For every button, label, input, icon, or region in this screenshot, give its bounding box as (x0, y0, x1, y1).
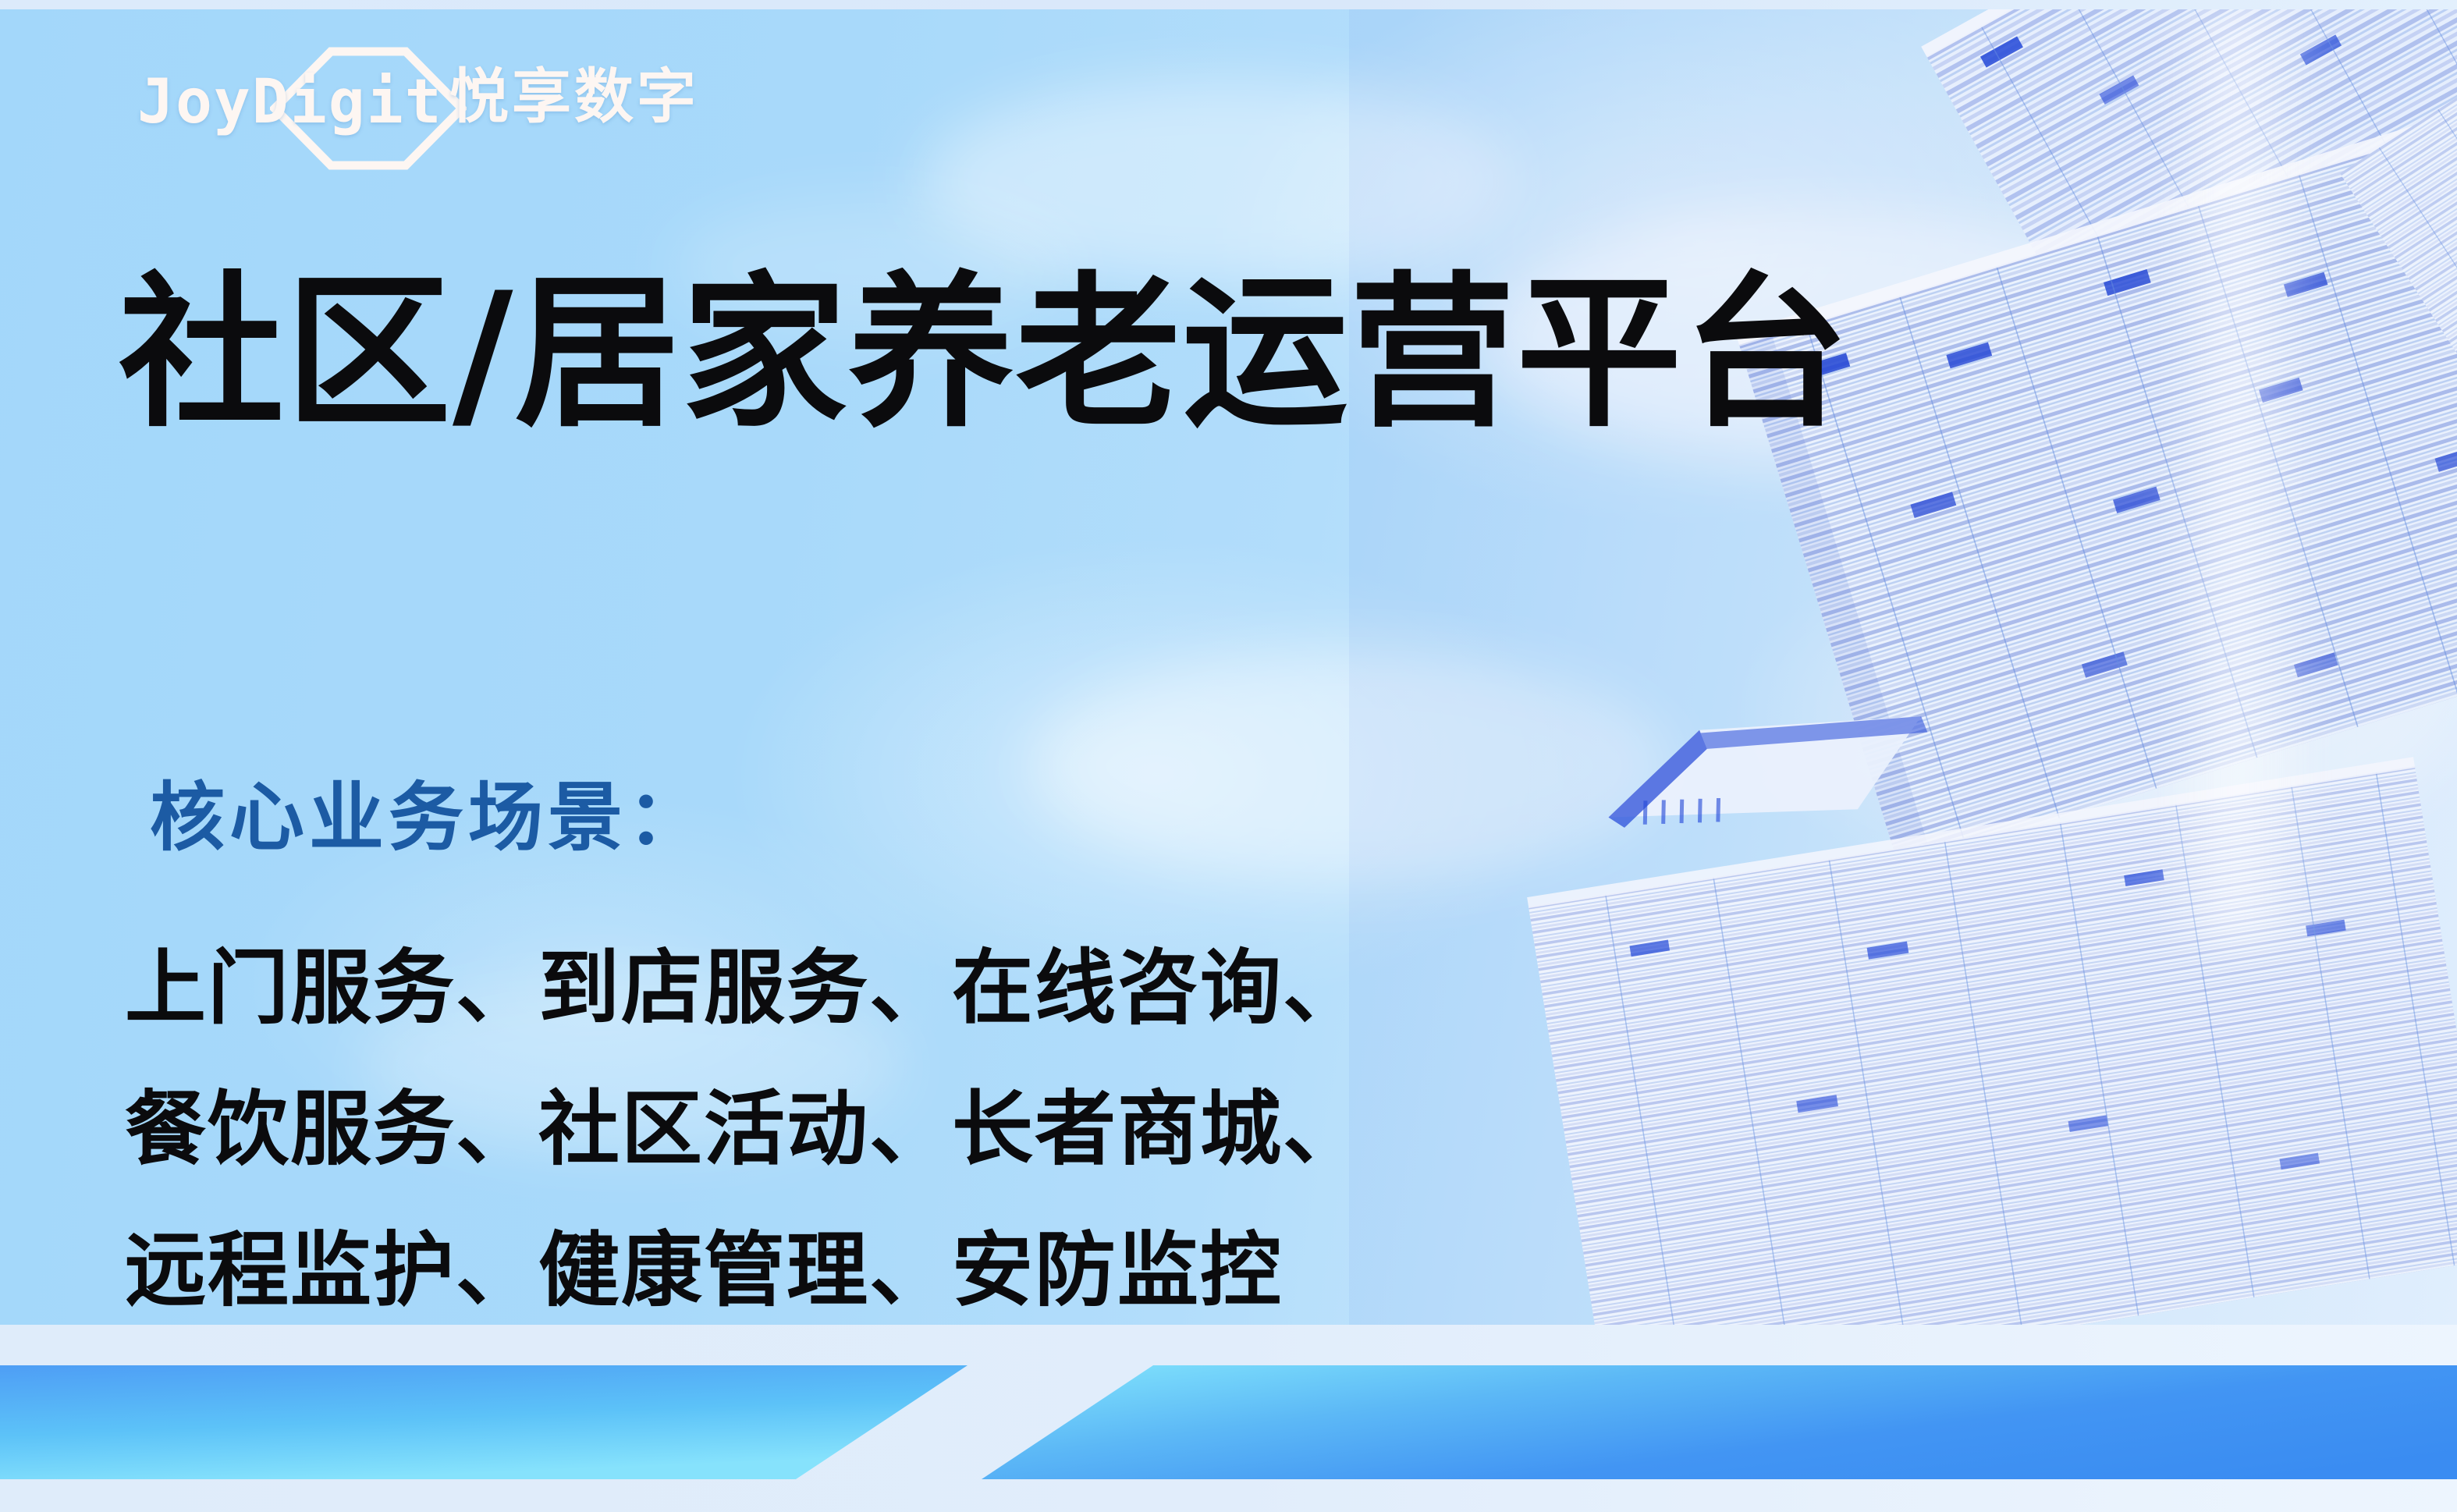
light-column-highlight (2161, 9, 2325, 946)
logo-lockup: JoyDigit 悦享数字 (137, 61, 582, 154)
slide-canvas: JoyDigit 悦享数字 社区/居家养老运营平台 核心业务场景： 上门服务、到… (0, 0, 2457, 1512)
scenario-line: 餐饮服务、社区活动、长者商城、 (125, 1059, 1365, 1200)
decor-shape-right (982, 1365, 2457, 1479)
logo-latin-text: JoyDigit (137, 72, 443, 133)
top-edge-strip (0, 0, 2457, 9)
brand-logo[interactable]: JoyDigit 悦享数字 (137, 61, 582, 154)
scenario-list: 上门服务、到店服务、在线咨询、 餐饮服务、社区活动、长者商城、 远程监护、健康管… (125, 917, 1365, 1341)
scenario-line: 远程监护、健康管理、安防监控 (125, 1200, 1365, 1341)
page-title: 社区/居家养老运营平台 (119, 257, 1850, 449)
diagonal-parallelogram-band (0, 1325, 2457, 1512)
bottom-decor-band (0, 1325, 2457, 1512)
scenario-line: 上门服务、到店服务、在线咨询、 (125, 917, 1365, 1059)
decor-shape-left (0, 1365, 968, 1479)
section-subheading: 核心业务场景： (150, 780, 707, 855)
logo-chinese-text: 悦享数字 (449, 67, 699, 126)
